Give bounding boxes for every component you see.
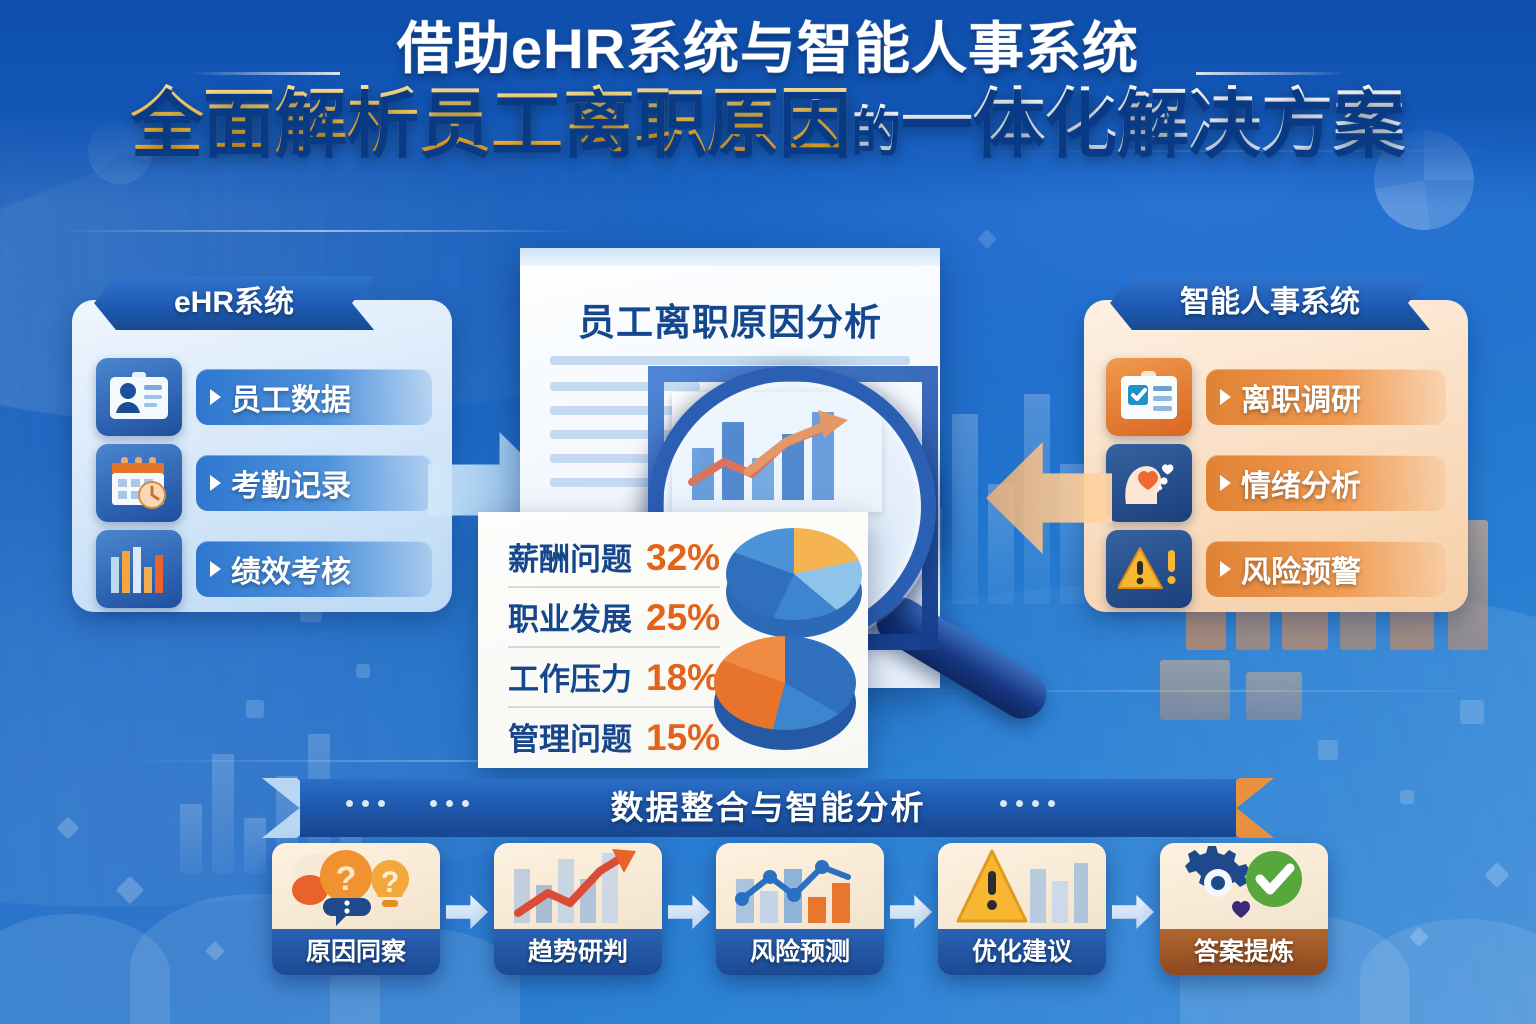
document-title: 员工离职原因分析: [520, 292, 940, 346]
list-item[interactable]: 绩效考核: [96, 530, 432, 608]
stat-row: 工作压力 18%: [508, 654, 720, 699]
caret-icon: [210, 475, 221, 491]
clipboard-check-icon: [1106, 358, 1192, 436]
caret-icon: [1220, 475, 1231, 491]
list-item-label: 员工数据: [231, 375, 351, 419]
stat-label: 工作压力: [508, 654, 632, 699]
section-banner-label: 数据整合与智能分析: [300, 779, 1236, 837]
panel-smart-hr-title: 智能人事系统: [1110, 276, 1430, 330]
panel-ehr-title: eHR系统: [94, 276, 374, 330]
list-item[interactable]: 情绪分析: [1106, 444, 1446, 522]
caret-icon: [1220, 389, 1231, 405]
list-item-pill[interactable]: 绩效考核: [196, 541, 432, 597]
stat-label: 薪酬问题: [508, 534, 632, 579]
list-item-label: 绩效考核: [231, 547, 351, 591]
line-chart-icon: [716, 843, 884, 929]
caret-icon: [210, 561, 221, 577]
bar-chart-icon: [96, 530, 182, 608]
svg-text:?: ?: [336, 860, 357, 898]
calendar-clock-icon: [96, 444, 182, 522]
head-heart-icon: [1106, 444, 1192, 522]
step-label: 风险预测: [716, 929, 884, 975]
pie-chart-lower: [714, 636, 856, 750]
svg-text:?: ?: [381, 866, 399, 899]
step-label: 优化建议: [938, 929, 1106, 975]
step-label: 原因同察: [272, 929, 440, 975]
question-bubbles-icon: ? ?: [272, 843, 440, 929]
stat-value: 25%: [646, 597, 720, 639]
list-item-label: 离职调研: [1241, 375, 1361, 419]
title-tail: 一体化解决方案: [901, 83, 1405, 163]
step-card[interactable]: 风险预测: [716, 843, 884, 975]
stat-row: 职业发展 25%: [508, 594, 720, 639]
list-item-pill[interactable]: 员工数据: [196, 369, 432, 425]
panel-smart-hr-system: 智能人事系统 离职调研: [1084, 300, 1468, 612]
gear-check-icon: [1160, 843, 1328, 929]
list-item[interactable]: 员工数据: [96, 358, 432, 436]
step-card[interactable]: 答案提炼: [1160, 843, 1328, 975]
title-line-1: 借助eHR系统与智能人事系统: [0, 18, 1536, 80]
infographic-canvas: 借助eHR系统与智能人事系统 全面解析员工离职原因的一体化解决方案 eHR系统: [0, 0, 1536, 1024]
list-item-label: 情绪分析: [1241, 461, 1361, 505]
list-item-pill[interactable]: 考勤记录: [196, 455, 432, 511]
list-item-label: 风险预警: [1241, 547, 1361, 591]
warning-bars-icon: [938, 843, 1106, 929]
trend-up-icon: [494, 843, 662, 929]
caret-icon: [210, 389, 221, 405]
stat-row: 管理问题 15%: [508, 714, 720, 759]
title-line-2: 全面解析员工离职原因的一体化解决方案: [0, 86, 1536, 162]
list-item[interactable]: 风险预警: [1106, 530, 1446, 608]
list-item-pill[interactable]: 风险预警: [1206, 541, 1446, 597]
panel-ehr-system: eHR系统 员工数据: [72, 300, 452, 612]
stat-label: 职业发展: [508, 594, 632, 639]
stat-value: 15%: [646, 717, 720, 759]
stat-row: 薪酬问题 32%: [508, 534, 720, 579]
step-card[interactable]: 趋势研判: [494, 843, 662, 975]
title-highlight: 全面解析员工离职原因: [131, 83, 851, 163]
stat-value: 18%: [646, 657, 720, 699]
list-item-pill[interactable]: 情绪分析: [1206, 455, 1446, 511]
list-item-pill[interactable]: 离职调研: [1206, 369, 1446, 425]
step-label: 趋势研判: [494, 929, 662, 975]
step-card[interactable]: 优化建议: [938, 843, 1106, 975]
caret-icon: [1220, 561, 1231, 577]
title-connector: 的: [851, 102, 901, 158]
step-card[interactable]: ? ? 原因同察: [272, 843, 440, 975]
pie-chart-upper: [726, 528, 862, 638]
id-badge-icon: [96, 358, 182, 436]
page-title: 借助eHR系统与智能人事系统 全面解析员工离职原因的一体化解决方案: [0, 18, 1536, 161]
warning-triangle-icon: [1106, 530, 1192, 608]
list-item[interactable]: 考勤记录: [96, 444, 432, 522]
arrow-right-to-center-icon: [986, 442, 1112, 554]
stat-value: 32%: [646, 537, 720, 579]
list-item-label: 考勤记录: [231, 461, 351, 505]
step-label: 答案提炼: [1160, 929, 1328, 975]
list-item[interactable]: 离职调研: [1106, 358, 1446, 436]
stat-label: 管理问题: [508, 714, 632, 759]
